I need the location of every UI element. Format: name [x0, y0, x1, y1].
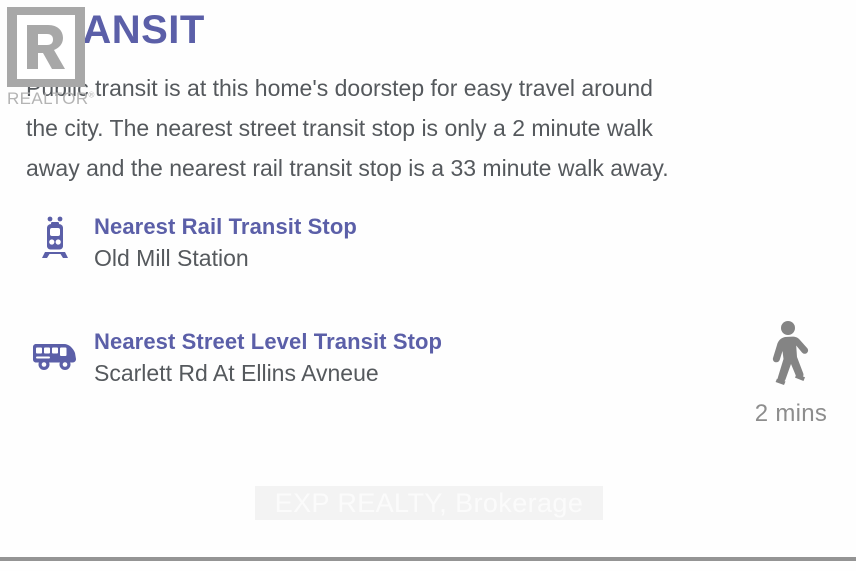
intro-line-3: away and the nearest rail transit stop i…: [26, 148, 826, 188]
page-title: TRANSIT: [28, 10, 205, 50]
transit-stop-rail: Nearest Rail Transit Stop Old Mill Stati…: [26, 213, 357, 275]
walk-time-label: 2 mins: [736, 400, 846, 428]
transit-stop-street: Nearest Street Level Transit Stop Scarle…: [26, 328, 442, 390]
pedestrian-walking-icon: [736, 318, 846, 396]
transit-stop-rail-value: Old Mill Station: [94, 241, 357, 275]
transit-stop-street-text: Nearest Street Level Transit Stop Scarle…: [94, 328, 442, 390]
intro-paragraph: Public transit is at this home's doorste…: [26, 68, 826, 188]
brokerage-watermark-text: EXP REALTY, Brokerage: [275, 488, 584, 519]
transit-stop-street-value: Scarlett Rd At Ellins Avneue: [94, 356, 442, 390]
train-icon: [26, 215, 84, 261]
brokerage-watermark: EXP REALTY, Brokerage: [255, 486, 603, 520]
transit-stop-rail-label: Nearest Rail Transit Stop: [94, 213, 357, 241]
transit-stop-street-label: Nearest Street Level Transit Stop: [94, 328, 442, 356]
bottom-divider: [0, 557, 856, 561]
walk-time-badge: 2 mins: [736, 318, 846, 428]
transit-stop-rail-text: Nearest Rail Transit Stop Old Mill Stati…: [94, 213, 357, 275]
bus-icon: [26, 333, 84, 379]
intro-line-2: the city. The nearest street transit sto…: [26, 108, 826, 148]
intro-line-1: Public transit is at this home's doorste…: [26, 68, 826, 108]
transit-info-card: REALTOR® TRANSIT Public transit is at th…: [0, 0, 856, 571]
